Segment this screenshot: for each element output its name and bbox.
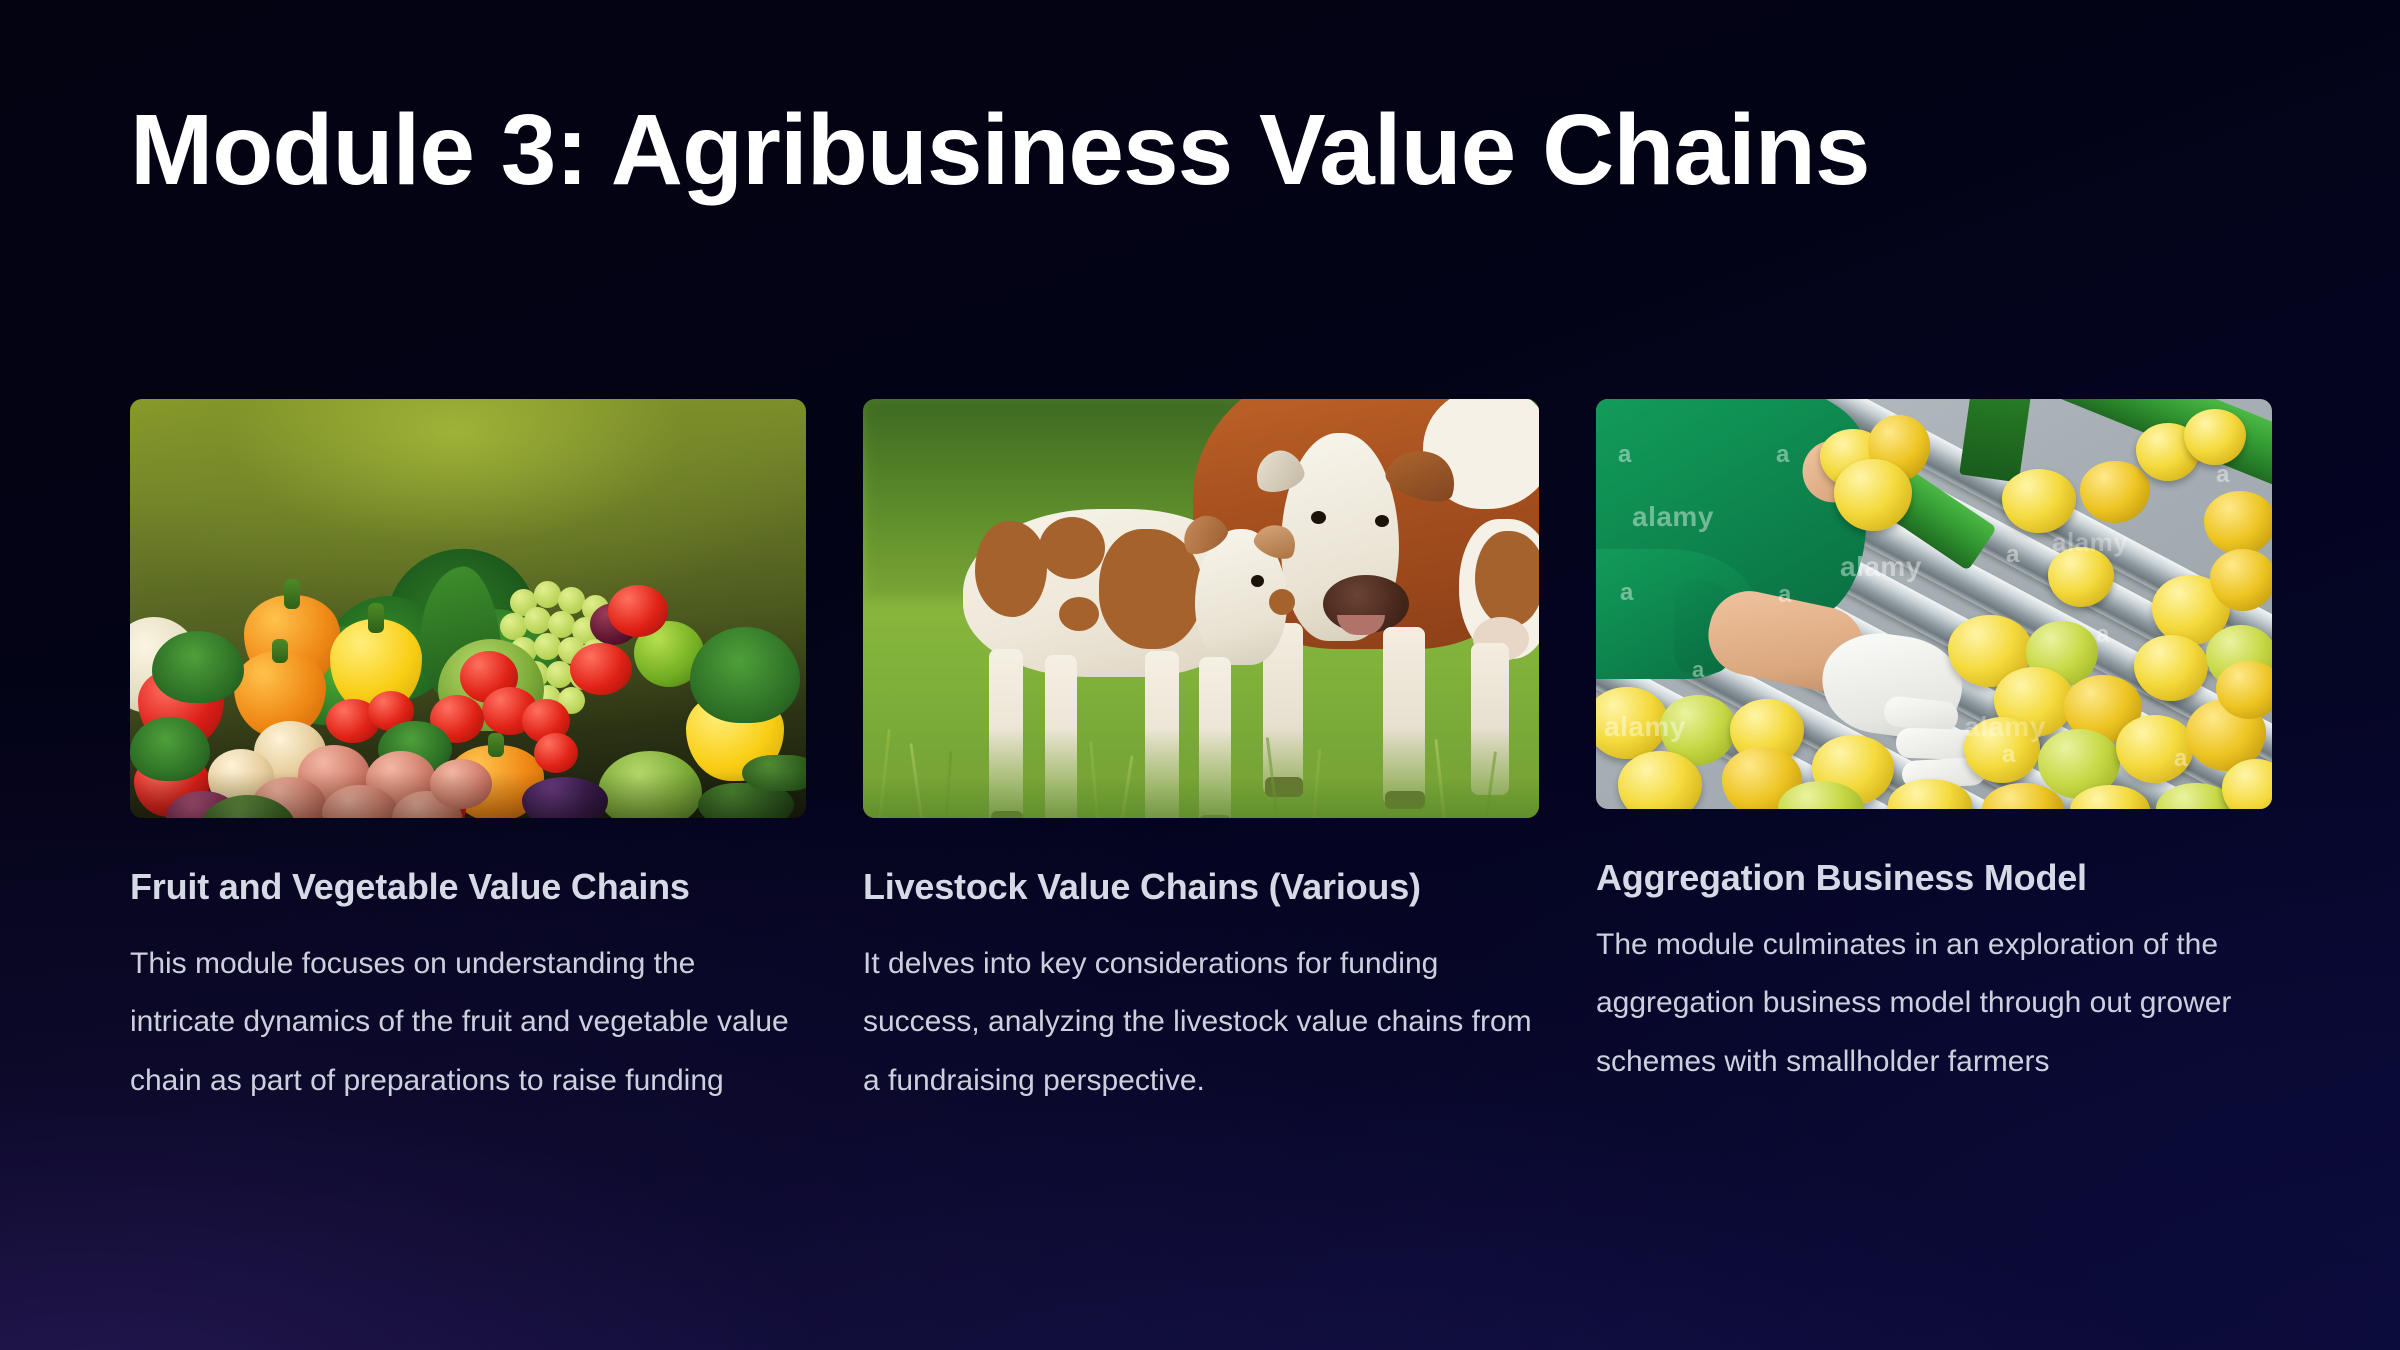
lemon [2204, 491, 2272, 555]
watermark-logo: alamy [1964, 711, 2046, 743]
watermark-letter: a [1776, 441, 1790, 469]
watermark-letter: a [2216, 461, 2230, 489]
image-bottom-shadow [130, 772, 806, 818]
cow-brown-patch [1475, 531, 1539, 627]
card-aggregation[interactable]: alamy alamy alamy alamy alamy a a a a a … [1596, 399, 2272, 1110]
pepper-stem [488, 733, 504, 757]
lemon [1618, 751, 1702, 809]
watermark-letter: a [2174, 745, 2188, 773]
parsley-tuft [152, 631, 244, 703]
card-title: Aggregation Business Model [1596, 859, 2272, 898]
watermark-logo: alamy [2052, 527, 2128, 558]
cow-eye [1375, 515, 1389, 527]
lemon [2210, 549, 2272, 611]
watermark-logo: alamy [1632, 501, 1714, 533]
calf-brown-patch [1059, 597, 1099, 631]
card-grid: Fruit and Vegetable Value Chains This mo… [130, 399, 2272, 1110]
watermark-letter: a [1778, 581, 1792, 609]
watermark-letter: a [1618, 441, 1632, 469]
watermark-letter: a [1692, 657, 1705, 683]
cow-and-calf-image [863, 399, 1539, 818]
calf-face-patch [1269, 589, 1295, 615]
watermark-letter: a [2006, 541, 2020, 569]
pepper-stem [272, 639, 288, 663]
fruit-and-vegetable-image [130, 399, 806, 818]
lemon-conveyor-image: alamy alamy alamy alamy alamy a a a a a … [1596, 399, 2272, 809]
card-title: Fruit and Vegetable Value Chains [130, 868, 806, 907]
watermark-letter: a [1620, 579, 1634, 607]
pepper-stem [368, 603, 384, 633]
card-body: The module culminates in an exploration … [1596, 916, 2272, 1092]
watermark-logo: alamy [1604, 711, 1686, 743]
watermark-letter: a [2096, 621, 2110, 649]
calf-eye [1251, 575, 1264, 587]
red-apple [608, 585, 668, 637]
watermark-letter: a [2002, 741, 2016, 769]
watermark-logo: alamy [1840, 551, 1922, 583]
pepper-stem [284, 579, 300, 609]
red-apple [570, 643, 632, 695]
slide-canvas: Module 3: Agribusiness Value Chains [0, 0, 2400, 1350]
card-body: This module focuses on understanding the… [130, 935, 806, 1111]
parsley-tuft [690, 627, 800, 723]
card-fruit-and-vegetable[interactable]: Fruit and Vegetable Value Chains This mo… [130, 399, 806, 1110]
calf-brown-patch [975, 521, 1047, 617]
card-title: Livestock Value Chains (Various) [863, 868, 1539, 907]
tomato [534, 733, 578, 773]
cow-eye [1311, 511, 1326, 524]
calf-brown-patch [1039, 517, 1105, 579]
card-body: It delves into key considerations for fu… [863, 935, 1539, 1111]
card-livestock[interactable]: Livestock Value Chains (Various) It delv… [863, 399, 1539, 1110]
page-title: Module 3: Agribusiness Value Chains [130, 100, 1869, 200]
